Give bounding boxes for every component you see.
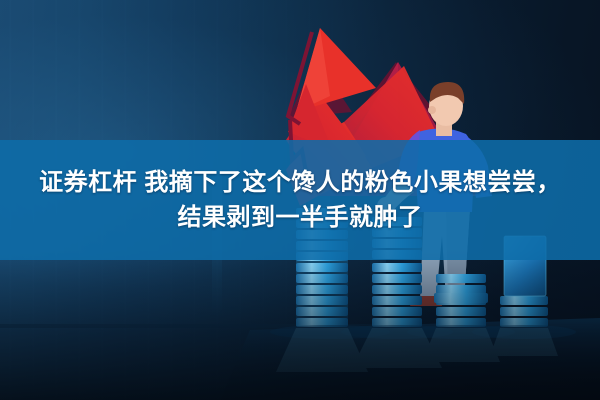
headline-line-1: 证券杠杆 我摘下了这个馋人的粉色小果想尝尝， — [39, 166, 561, 199]
banner-image: 证券杠杆 我摘下了这个馋人的粉色小果想尝尝， 结果剥到一半手就肿了 — [0, 0, 600, 400]
bottom-shadow — [0, 250, 600, 400]
headline-container: 证券杠杆 我摘下了这个馋人的粉色小果想尝尝， 结果剥到一半手就肿了 — [0, 140, 600, 260]
headline-line-2: 结果剥到一半手就肿了 — [178, 201, 423, 234]
